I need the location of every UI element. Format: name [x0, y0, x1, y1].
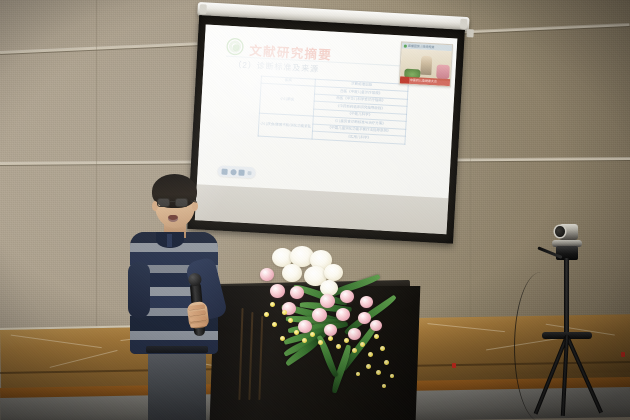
pip-figure	[420, 56, 432, 76]
presenter-belt	[146, 346, 208, 353]
wall-marker-red-right	[621, 352, 625, 357]
rose-bloom	[312, 308, 327, 322]
rose-bloom	[290, 286, 304, 299]
live-indicator-icon	[404, 45, 407, 48]
rose-bloom	[336, 308, 350, 321]
eyeglasses-bridge	[170, 201, 175, 202]
rose-bloom	[260, 268, 274, 281]
eyeglasses-icon	[175, 198, 188, 207]
cell-disease: 小儿肺炎	[259, 84, 315, 117]
presenter-collar	[156, 232, 184, 248]
eyeglasses-icon	[157, 198, 170, 207]
cell-disease: 小儿厌食/脾胃不和/消化功能紊乱	[258, 113, 313, 138]
rose-bloom	[348, 328, 361, 340]
wall-marker-red-left	[452, 363, 456, 368]
presentation-slide: 文献研究摘要 （2）诊断标准及来源 疾病 诊断标准出处 小儿肺炎 西医《中医儿童…	[197, 24, 458, 198]
camera-lens-icon	[555, 226, 565, 237]
pip-banner	[436, 64, 450, 79]
lily-bloom	[282, 264, 302, 282]
presenter-hand	[186, 301, 209, 329]
conference-photo-scene: 文献研究摘要 （2）诊断标准及来源 疾病 诊断标准出处 小儿肺炎 西医《中医儿童…	[0, 0, 630, 420]
screen-wall-bracket	[466, 29, 473, 37]
wall-panel-joint-left	[96, 0, 97, 352]
camera-cable	[514, 272, 568, 420]
presenter-trousers	[148, 350, 206, 420]
pip-ticker-text: 中医药儿童健康大会	[400, 76, 452, 86]
rose-bloom	[360, 296, 373, 308]
rose-bloom	[358, 312, 371, 324]
camera-tripod	[520, 232, 616, 420]
microphone-head-icon	[188, 273, 202, 287]
tripod-leg	[565, 335, 603, 413]
rose-bloom	[320, 294, 335, 308]
presenter-left-arm	[128, 262, 150, 318]
rose-bloom	[270, 284, 285, 298]
podium-floral-arrangement	[224, 246, 414, 406]
rose-bloom	[370, 320, 382, 331]
picture-in-picture-video[interactable]: 直播回放 | 现场视频 中医药儿童健康大会	[399, 41, 453, 87]
lily-bloom	[324, 264, 343, 281]
rose-bloom	[324, 324, 337, 336]
rose-bloom	[340, 290, 354, 303]
next-icon[interactable]	[247, 171, 251, 175]
presenter-speaker	[122, 174, 240, 420]
rose-bloom	[298, 320, 312, 333]
wall-panel-joint-right	[470, 0, 471, 352]
institution-seal-icon	[226, 38, 244, 56]
slide-data-table: 疾病 诊断标准出处 小儿肺炎 西医《中医儿童诊疗常规》 西医《中华儿科学会诊疗指…	[258, 76, 409, 145]
